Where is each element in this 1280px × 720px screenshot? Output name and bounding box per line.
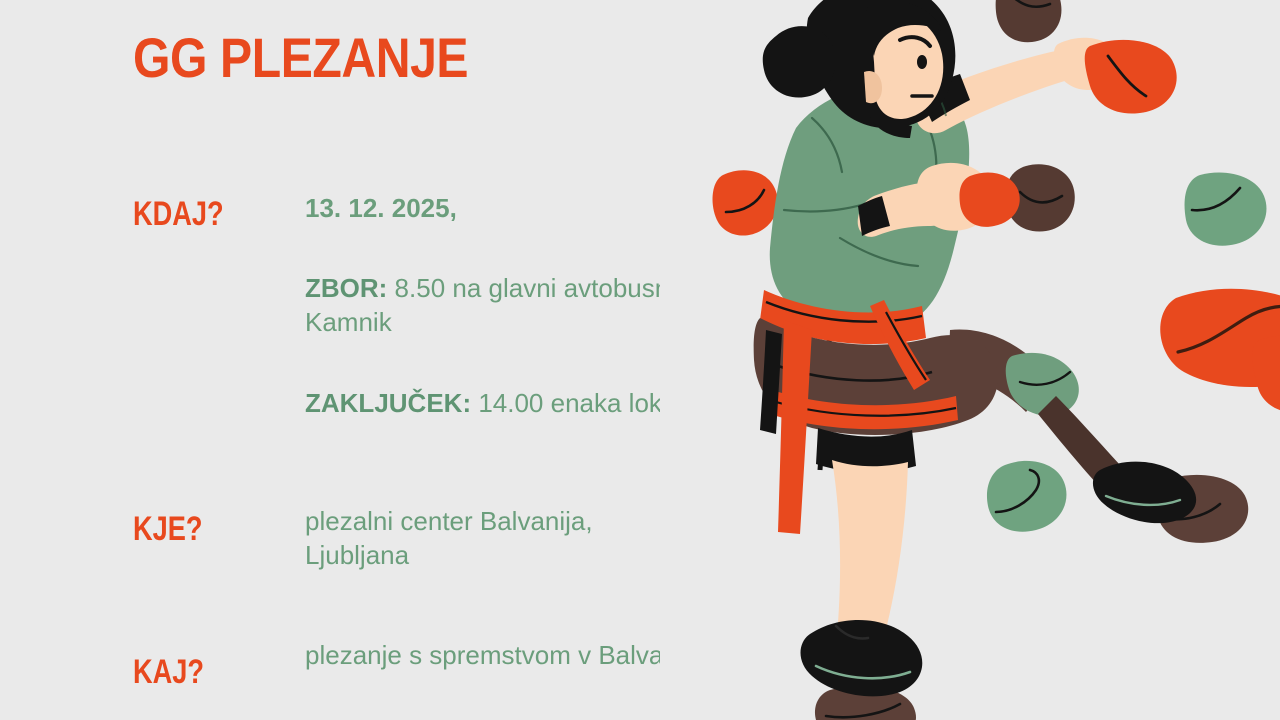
label-kaj: KAJ? bbox=[133, 655, 204, 689]
zakljucek-label: ZAKLJUČEK: bbox=[305, 388, 471, 418]
label-kdaj: KDAJ? bbox=[133, 197, 224, 231]
value-date: 13. 12. 2025, bbox=[305, 192, 457, 226]
label-kje: KJE? bbox=[133, 512, 203, 546]
page-title: GG PLEZANJE bbox=[133, 30, 468, 86]
value-kje: plezalni center Balvanija, Ljubljana bbox=[305, 505, 665, 573]
climber-illustration bbox=[660, 0, 1280, 720]
poster-canvas: GG PLEZANJE KDAJ? 13. 12. 2025, ZBOR: 8.… bbox=[0, 0, 1280, 720]
zbor-label: ZBOR: bbox=[305, 273, 387, 303]
value-zakljucek: ZAKLJUČEK: 14.00 enaka lokacija bbox=[305, 387, 715, 421]
